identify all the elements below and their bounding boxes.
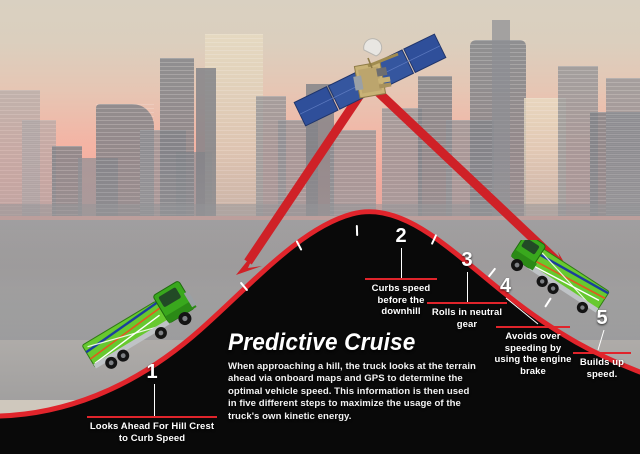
callout-5[interactable]: 5 Builds up speed.: [572, 308, 632, 380]
callout-1[interactable]: 1 Looks Ahead For Hill Crest to Curb Spe…: [86, 362, 218, 444]
callout-4-text: Avoids over speeding by using the engine…: [494, 328, 572, 377]
callout-2-number: 2: [362, 226, 440, 246]
callout-1-text: Looks Ahead For Hill Crest to Curb Speed: [86, 418, 218, 444]
hill-tick-3: [356, 225, 358, 236]
callout-5-number: 5: [572, 308, 632, 328]
callout-1-number: 1: [86, 362, 218, 382]
page-title: Predictive Cruise: [228, 330, 474, 356]
infographic-canvas: 1 Looks Ahead For Hill Crest to Curb Spe…: [0, 0, 640, 454]
title-block: Predictive Cruise When approaching a hil…: [228, 330, 490, 423]
description-text: When approaching a hill, the truck looks…: [228, 361, 478, 423]
callout-4-number: 4: [494, 276, 572, 296]
callout-3-number: 3: [426, 250, 508, 270]
callout-5-text: Builds up speed.: [572, 354, 632, 380]
callout-4[interactable]: 4 Avoids over speeding by using the engi…: [494, 276, 572, 377]
